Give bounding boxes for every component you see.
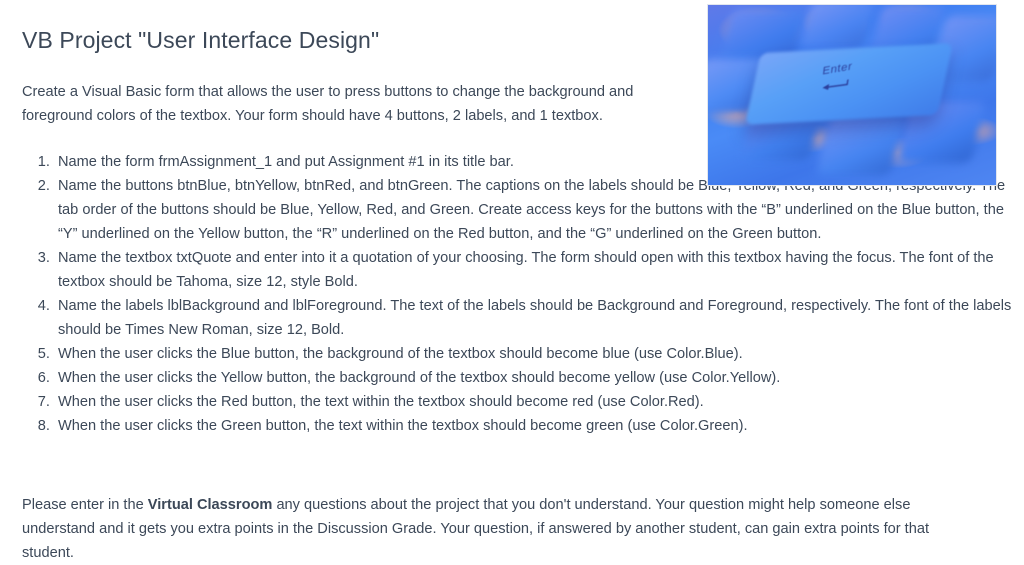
list-item: When the user clicks the Red button, the… [54,390,1024,414]
page-title: VB Project "User Interface Design" [22,25,379,55]
list-item: When the user clicks the Green button, t… [54,414,1024,438]
list-item: When the user clicks the Blue button, th… [54,342,1024,366]
intro-paragraph: Create a Visual Basic form that allows t… [22,80,682,129]
list-item: When the user clicks the Yellow button, … [54,366,1024,390]
assignment-page: VB Project "User Interface Design" Creat… [0,0,1024,560]
closing-text-before: Please enter in the [22,497,148,513]
virtual-classroom-emphasis: Virtual Classroom [148,497,273,513]
closing-paragraph: Please enter in the Virtual Classroom an… [22,493,972,565]
list-item: Name the textbox txtQuote and enter into… [54,246,1024,294]
keyboard-photo-image: Enter [708,5,996,185]
list-item: Name the labels lblBackground and lblFor… [54,294,1024,342]
requirements-list: Name the form frmAssignment_1 and put As… [22,150,1024,438]
keycap-shape [800,4,875,48]
keyboard-photo: Enter [707,4,997,186]
keycap-shape [816,117,905,175]
